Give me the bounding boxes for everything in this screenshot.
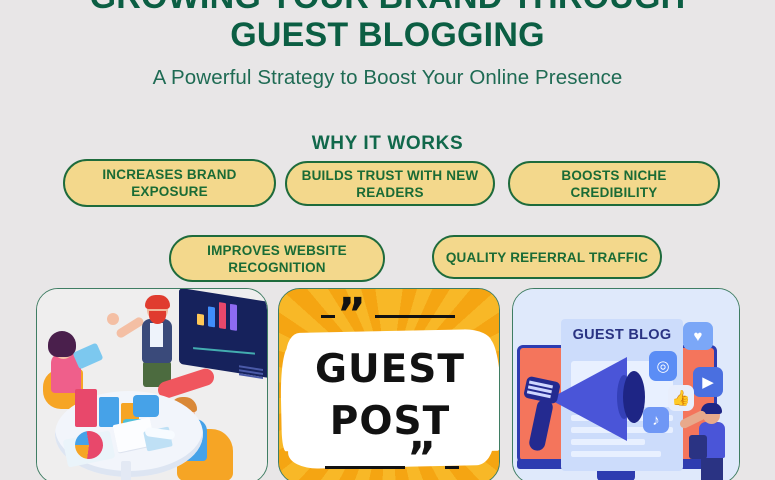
guest-post-line-1: GUEST	[279, 344, 499, 396]
blog-page-title: GUEST BLOG	[561, 327, 683, 343]
presentation-screen-icon	[179, 288, 268, 378]
bar-chart-block	[75, 389, 97, 427]
benefit-pill-quality-referral-traffic[interactable]: QUALITY REFERRAL TRAFFIC	[432, 235, 662, 279]
guest-blog-promotion-illustration: GUEST BLOG ♥ ◎ ▶ 👍 ♪	[513, 289, 739, 480]
person-tablet	[689, 435, 707, 459]
infographic-canvas: GROWING YOUR BRAND THROUGH GUEST BLOGGIN…	[0, 0, 775, 480]
megaphone-cap	[623, 371, 645, 423]
megaphone-horn	[549, 357, 627, 441]
music-note-icon: ♪	[643, 407, 669, 433]
decorative-rule	[321, 315, 335, 318]
title-line-2: GUEST BLOGGING	[0, 16, 775, 54]
benefit-pill-increases-brand-exposure[interactable]: INCREASES BRAND EXPOSURE	[63, 159, 276, 207]
benefit-pill-label: IMPROVES WEBSITE RECOGNITION	[181, 242, 373, 276]
card-guest-post[interactable]: ” GUEST POST ”	[278, 288, 500, 480]
screen-text-lines	[239, 365, 263, 371]
chart-line	[193, 347, 255, 354]
benefit-pill-label: BOOSTS NICHE CREDIBILITY	[520, 167, 708, 201]
blog-text-line	[571, 451, 661, 457]
team-meeting-illustration	[37, 289, 267, 480]
section-heading-why-it-works: WHY IT WORKS	[0, 133, 775, 155]
presenter-hand	[107, 313, 119, 325]
benefit-pill-builds-trust-with-new-readers[interactable]: BUILDS TRUST WITH NEW READERS	[285, 161, 495, 206]
title-line-1: GROWING YOUR BRAND THROUGH	[0, 0, 775, 16]
card-team-meeting[interactable]	[36, 288, 268, 480]
decorative-rule	[325, 466, 405, 469]
presenter-hair	[145, 295, 170, 309]
location-pin-icon: ◎	[649, 351, 677, 381]
tablet-icon	[72, 342, 103, 369]
thumbs-up-icon: 👍	[668, 385, 694, 411]
play-icon: ▶	[693, 367, 723, 397]
page-subtitle: A Powerful Strategy to Boost Your Online…	[0, 66, 775, 90]
presenter-shirt	[150, 323, 163, 347]
benefit-pill-label: INCREASES BRAND EXPOSURE	[75, 166, 264, 200]
quote-mark-top: ”	[337, 293, 366, 337]
bar-chart-block	[99, 397, 119, 427]
card-guest-blog-promotion[interactable]: GUEST BLOG ♥ ◎ ▶ 👍 ♪	[512, 288, 740, 480]
chart-bar	[219, 302, 226, 329]
page-title: GROWING YOUR BRAND THROUGH GUEST BLOGGIN…	[0, 0, 775, 54]
benefit-pill-label: QUALITY REFERRAL TRAFFIC	[446, 249, 648, 266]
heart-icon: ♥	[683, 322, 713, 350]
chart-bar	[197, 314, 204, 326]
attendee-left-hair	[48, 331, 76, 357]
presenter-arm	[115, 316, 145, 340]
benefit-pill-improves-website-recognition[interactable]: IMPROVES WEBSITE RECOGNITION	[169, 235, 385, 282]
chart-bar	[208, 306, 215, 327]
puzzle-piece-icon	[133, 395, 159, 417]
benefit-pill-boosts-niche-credibility[interactable]: BOOSTS NICHE CREDIBILITY	[508, 161, 720, 206]
guest-post-badge: ” GUEST POST ”	[279, 289, 499, 480]
benefit-pill-label: BUILDS TRUST WITH NEW READERS	[297, 167, 483, 201]
chart-bar	[230, 304, 237, 331]
guest-post-text: GUEST POST	[279, 344, 499, 448]
decorative-rule	[445, 466, 459, 469]
quote-mark-bottom: ”	[407, 437, 436, 480]
decorative-rule	[375, 315, 455, 318]
guest-post-line-2: POST	[279, 396, 499, 448]
table-stem	[121, 461, 131, 480]
